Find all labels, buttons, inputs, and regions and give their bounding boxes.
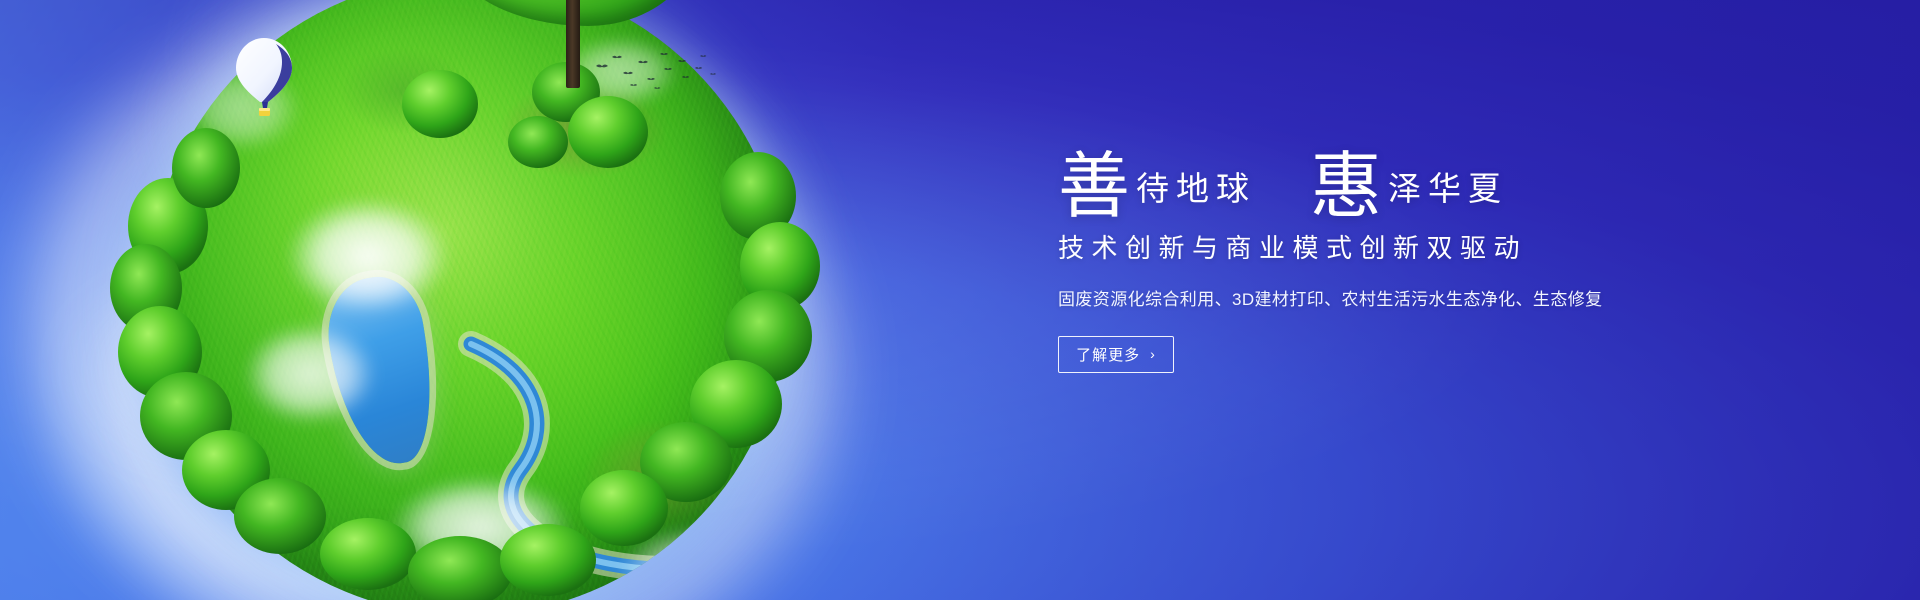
headline-part1-large: 善 bbox=[1058, 154, 1130, 220]
rim-tree-group bbox=[68, 0, 868, 600]
headline-part2-small: 泽华夏 bbox=[1388, 162, 1508, 210]
rim-trees-right bbox=[580, 152, 820, 546]
page-title: 善 待地球 惠 泽华夏 bbox=[1058, 128, 1698, 214]
rim-trees-left bbox=[110, 128, 326, 554]
learn-more-button[interactable]: 了解更多 › bbox=[1058, 336, 1174, 373]
page-description: 固废资源化综合利用、3D建材打印、农村生活污水生态净化、生态修复 bbox=[1058, 285, 1698, 310]
hero-banner: 善 待地球 惠 泽华夏 技术创新与商业模式创新双驱动 固废资源化综合利用、3D建… bbox=[0, 0, 1920, 600]
headline-part1-small: 待地球 bbox=[1136, 162, 1256, 210]
hot-air-balloon-icon bbox=[232, 36, 296, 122]
headline-part2-large: 惠 bbox=[1310, 154, 1382, 220]
bird-flock-icon bbox=[592, 48, 722, 93]
learn-more-label: 了解更多 bbox=[1076, 344, 1140, 365]
chevron-right-icon: › bbox=[1150, 347, 1156, 361]
hero-copy-block: 善 待地球 惠 泽华夏 技术创新与商业模式创新双驱动 固废资源化综合利用、3D建… bbox=[1058, 128, 1698, 373]
rim-trees-bottom bbox=[320, 518, 596, 600]
page-subtitle: 技术创新与商业模式创新双驱动 bbox=[1058, 228, 1698, 265]
